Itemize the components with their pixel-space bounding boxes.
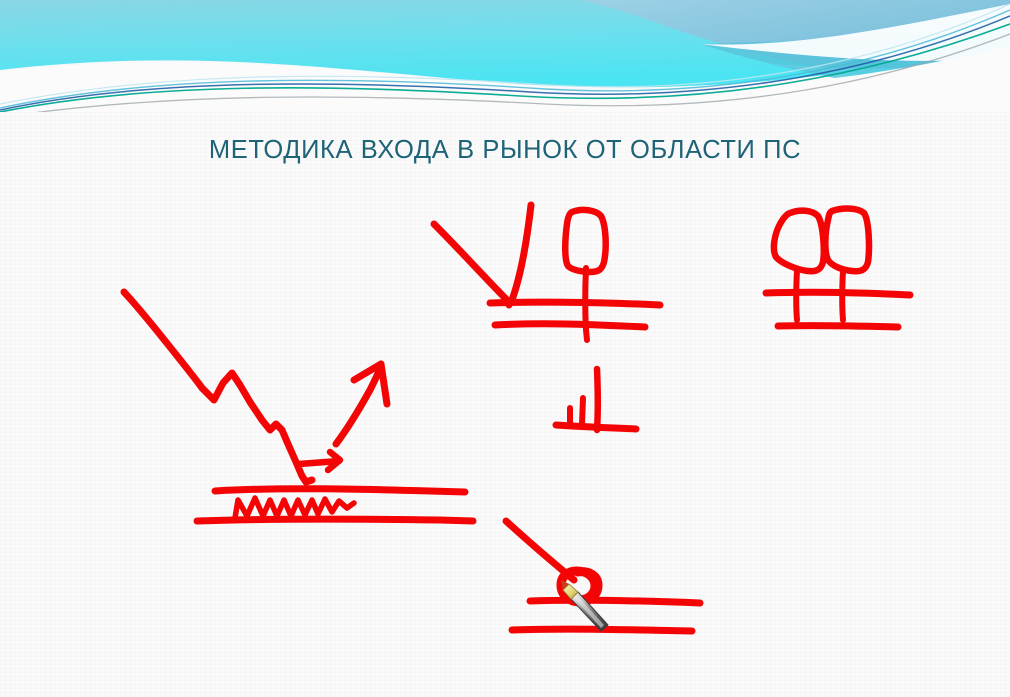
ascending-bars-baseline: [556, 425, 636, 429]
level-line-lower-bottom: [512, 629, 692, 631]
consolidation-zigzag: [235, 498, 354, 518]
level-line-lower-center: [495, 324, 645, 327]
candle-lower-wick-center: [585, 268, 587, 340]
bar-medium: [582, 398, 583, 424]
ink-annotation-layer: [0, 0, 1010, 697]
level-line-lower-right: [778, 326, 898, 327]
level-line-upper-center: [490, 302, 660, 305]
level-line-upper-right: [766, 292, 910, 295]
candle-body-center: [565, 210, 605, 272]
support-zone-lower-line: [197, 519, 473, 521]
candle-body-right: [825, 209, 869, 272]
descending-zigzag-line: [124, 292, 312, 482]
down-slope-line: [434, 224, 510, 303]
presentation-slide: МЕТОДИКА ВХОДА В РЫНОК ОТ ОБЛАСТИ ПС: [0, 0, 1010, 697]
drawing-ascending-bars: [556, 369, 636, 430]
bar-tall: [597, 369, 598, 430]
drawing-two-candles-level: [766, 209, 910, 327]
drawing-entry-point-mark: [506, 521, 700, 631]
drawing-v-reversal-candle: [434, 205, 660, 340]
drawing-downtrend-bounce: [124, 292, 473, 521]
candle-body-left: [774, 211, 824, 272]
up-arrow-head-right: [381, 364, 387, 404]
level-line-upper-bottom: [530, 600, 700, 603]
support-zone-upper-line: [215, 489, 465, 492]
v-bounce-line: [509, 205, 531, 305]
